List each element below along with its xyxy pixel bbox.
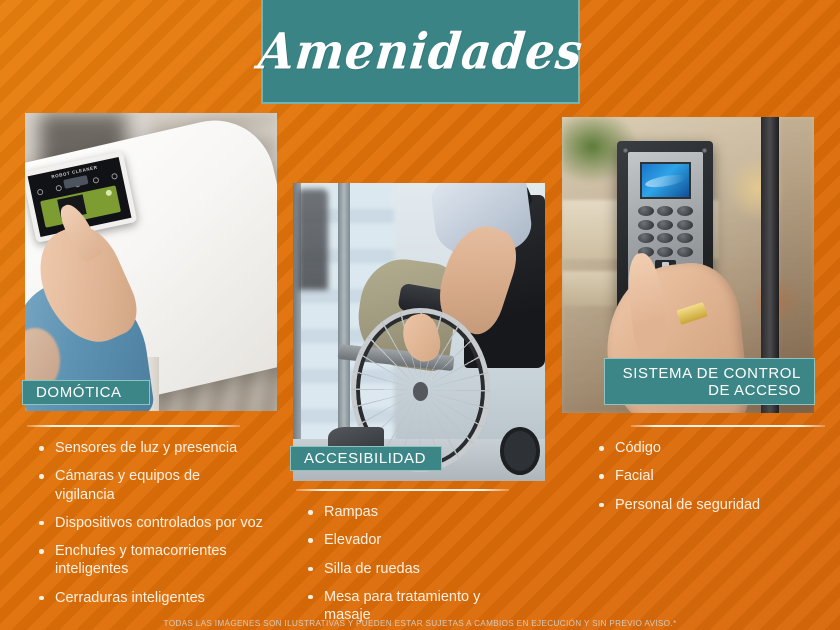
label-domotica: DOMÓTICA (22, 380, 150, 405)
divider-rule-accesibilidad (296, 489, 509, 491)
label-control-acceso: SISTEMA DE CONTROL DE ACCESO (604, 358, 815, 405)
tablet-icon (92, 177, 99, 184)
tablet-icon (110, 173, 117, 180)
list-item: Facial (593, 467, 813, 485)
divider-rule-control-acceso (631, 425, 825, 427)
divider-rule-domotica (27, 425, 240, 427)
page-title: Amenidades (256, 22, 586, 80)
label-control-acceso-line1: SISTEMA DE CONTROL (623, 366, 801, 383)
label-domotica-text: DOMÓTICA (36, 384, 122, 401)
photo-accesibilidad-image (293, 183, 545, 481)
photo-domotica: ROBOT CLEANER (25, 113, 277, 411)
list-item: Elevador (302, 531, 517, 549)
list-item: Código (593, 439, 813, 457)
footer-disclaimer: TODAS LAS IMÁGENES SON ILUSTRATIVAS Y PU… (0, 619, 840, 628)
photo-accesibilidad (293, 183, 545, 481)
bullet-list-control-acceso: Código Facial Personal de seguridad (593, 439, 813, 524)
screw (702, 148, 707, 153)
list-item: Cerraduras inteligentes (33, 589, 263, 607)
bullet-list-domotica: Sensores de luz y presencia Cámaras y eq… (33, 439, 263, 617)
poster-canvas: Amenidades ROBOT CLEANER (0, 0, 840, 630)
tablet-status-pill (62, 175, 88, 188)
screw (623, 148, 628, 153)
window-frame (338, 183, 349, 445)
label-accesibilidad: ACCESIBILIDAD (290, 446, 442, 471)
list-item: Personal de seguridad (593, 496, 813, 514)
list-item: Silla de ruedas (302, 560, 517, 578)
tablet-icon (54, 185, 61, 192)
bullet-list-accesibilidad: Rampas Elevador Silla de ruedas Mesa par… (302, 503, 517, 630)
caster-wheel (500, 427, 540, 475)
list-item: Rampas (302, 503, 517, 521)
label-control-acceso-line2: DE ACCESO (708, 383, 801, 400)
photo-domotica-image: ROBOT CLEANER (25, 113, 277, 411)
list-item: Cámaras y equipos de vigilancia (33, 467, 263, 504)
list-item: Dispositivos controlados por voz (33, 514, 263, 532)
list-item: Enchufes y tomacorrientes inteligentes (33, 542, 263, 579)
title-banner: Amenidades (261, 0, 580, 104)
label-accesibilidad-text: ACCESIBILIDAD (304, 450, 426, 467)
tablet-icon (36, 189, 43, 196)
background-person (298, 189, 328, 290)
list-item: Sensores de luz y presencia (33, 439, 263, 457)
